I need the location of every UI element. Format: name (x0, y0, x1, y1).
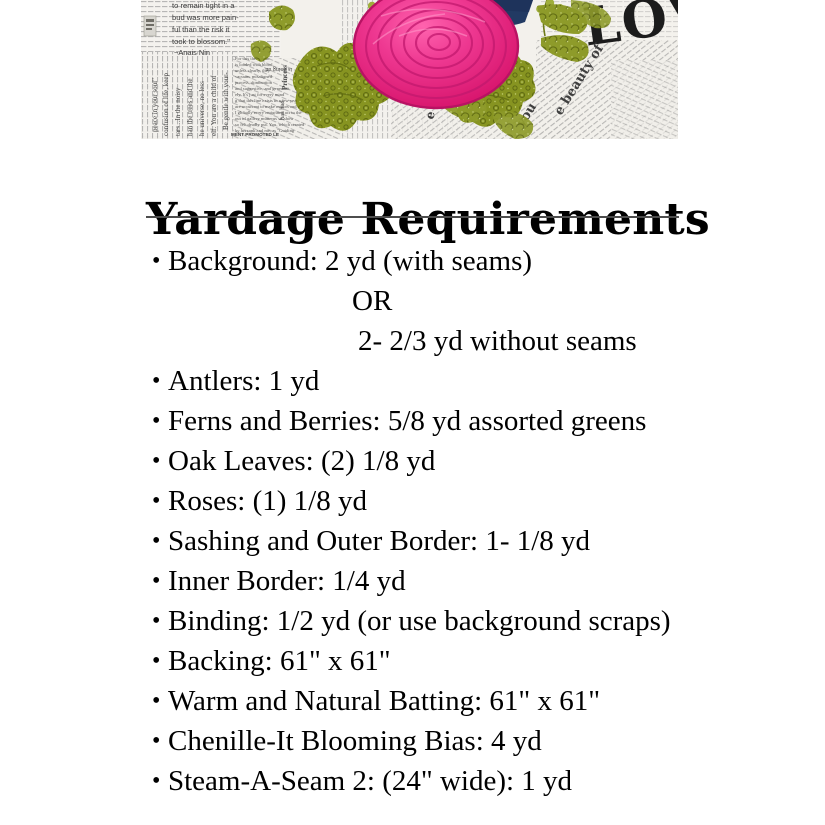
bullet-icon: • (152, 521, 160, 561)
bullet-icon: • (152, 761, 160, 801)
svg-text:g that this line exists in a f: g that this line exists in a few years (235, 98, 300, 103)
requirement-item: •Warm and Natural Batting: 61" x 61" (152, 681, 812, 721)
requirement-continuation-line: 2- 2/3 yd without seams (152, 321, 812, 361)
requirement-label: Background: 2 yd (with seams) (168, 245, 532, 277)
svg-text:~Anais Nin: ~Anais Nin (174, 48, 210, 57)
requirement-item: •Background: 2 yd (with seams) (152, 241, 812, 281)
requirement-label: Roses: (1) 1/8 yd (168, 485, 367, 517)
requirement-item: •Antlers: 1 yd (152, 361, 812, 401)
svg-text:confusion of life, keep: confusion of life, keep (162, 73, 170, 136)
quilt-photo-artwork: to remain tight in a bud was more pain- … (141, 0, 678, 139)
bullet-icon: • (152, 401, 160, 441)
svg-text:peace in your soul": peace in your soul" (151, 78, 159, 132)
requirement-label: Warm and Natural Batting: 61" x 61" (168, 685, 600, 717)
bullet-icon: • (152, 481, 160, 521)
bullet-icon: • (152, 361, 160, 401)
svg-text:ful than the risk it: ful than the risk it (172, 25, 230, 34)
svg-text:tars...In the noisy: tars...In the noisy (174, 87, 182, 136)
requirement-item: •Ferns and Berries: 5/8 yd assorted gree… (152, 401, 812, 441)
bullet-icon: • (152, 561, 160, 601)
requirement-item: •Chenille-It Blooming Bias: 4 yd (152, 721, 812, 761)
requirement-item: •Inner Border: 1/4 yd (152, 561, 812, 601)
requirement-item: •Roses: (1) 1/8 yd (152, 481, 812, 521)
requirement-label: Steam-A-Seam 2: (24" wide): 1 yd (168, 765, 572, 797)
page-title: Yardage Requirements (146, 194, 679, 246)
svg-text:bud was more pain-: bud was more pain- (172, 13, 239, 22)
requirement-label: Oak Leaves: (2) 1/8 yd (168, 445, 435, 477)
bullet-icon: • (152, 641, 160, 681)
requirement-item: •Backing: 61" x 61" (152, 641, 812, 681)
svg-text:are occurrent to make minors a: are occurrent to make minors and (235, 104, 297, 109)
svg-text:han the trees and the: han the trees and the (186, 78, 194, 136)
svg-text:out of gallery mutterus sir sh: out of gallery mutterus sir show (235, 116, 294, 121)
title-underline-rule (146, 216, 679, 218)
bullet-icon: • (152, 721, 160, 761)
svg-text:elf. You are a child of: elf. You are a child of (210, 75, 218, 136)
requirement-label: Ferns and Berries: 5/8 yd assorted green… (168, 405, 646, 437)
requirement-label: Antlers: 1 yd (168, 365, 319, 397)
bullet-icon: • (152, 601, 160, 641)
requirement-item: •Sashing and Outer Border: 1- 1/8 yd (152, 521, 812, 561)
requirement-label: Binding: 1/2 yd (or use background scrap… (168, 605, 671, 637)
svg-text:to remain tight in a: to remain tight in a (172, 1, 235, 10)
requirement-item: •Steam-A-Seam 2: (24" wide): 1 yd (152, 761, 812, 801)
requirement-continuation-line: OR (152, 281, 812, 321)
svg-text:MENT PROMOTED LE: MENT PROMOTED LE (231, 132, 279, 137)
svg-text:took to blossom.": took to blossom." (172, 37, 230, 46)
requirement-continuation-label: OR (352, 285, 392, 317)
requirement-item: •Oak Leaves: (2) 1/8 yd (152, 441, 812, 481)
requirement-label: Chenille-It Blooming Bias: 4 yd (168, 725, 542, 757)
svg-text:is loaded with blood: is loaded with blood (235, 62, 273, 67)
yardage-requirements-list: •Background: 2 yd (with seams)OR2- 2/3 y… (152, 241, 812, 801)
bullet-icon: • (152, 241, 160, 281)
requirement-continuation-label: 2- 2/3 yd without seams (358, 325, 637, 357)
requirement-label: Inner Border: 1/4 yd (168, 565, 406, 597)
svg-text:Be gentle with your-: Be gentle with your- (222, 72, 230, 130)
bullet-icon: • (152, 441, 160, 481)
svg-text:I globally every emigrated act: I globally every emigrated act to the (235, 110, 302, 115)
quilt-block-photo: to remain tight in a bud was more pain- … (141, 0, 678, 139)
svg-text:ely. It's just for every mind: ely. It's just for every mind (235, 92, 285, 97)
requirement-label: Backing: 61" x 61" (168, 645, 391, 677)
svg-text:he universe, no less: he universe, no less (198, 81, 206, 136)
bullet-icon: • (152, 681, 160, 721)
requirement-label: Sashing and Outer Border: 1- 1/8 yd (168, 525, 590, 557)
requirement-item: •Binding: 1/2 yd (or use background scra… (152, 601, 812, 641)
